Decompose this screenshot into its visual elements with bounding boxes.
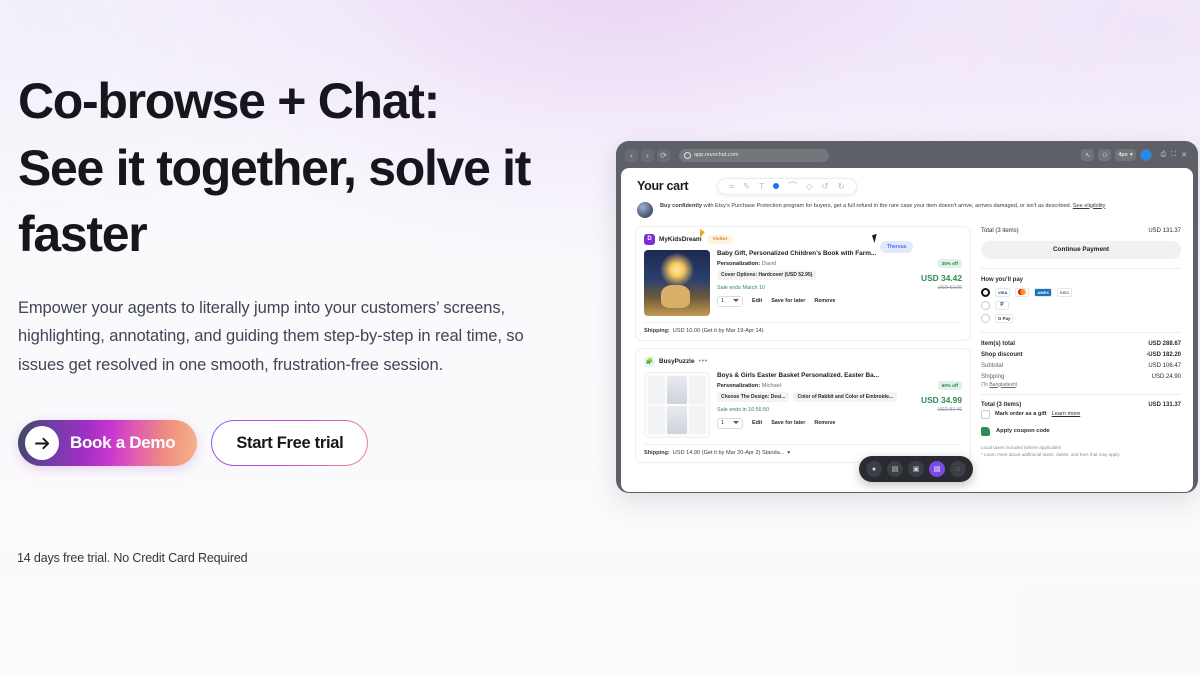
- chevron-down-icon: [733, 299, 739, 305]
- cart-body: D MyKidsDream Visitor Baby Gift, Persona…: [621, 226, 1193, 470]
- hero-copy-block: Co-browse + Chat:See it together, solve …: [18, 68, 598, 379]
- divider: [981, 394, 1181, 395]
- eraser-tool-icon[interactable]: ◇: [806, 182, 813, 191]
- remote-cursor: Theresa: [873, 234, 913, 253]
- cobrowse-dock[interactable]: ● ▤ ▣ ▤ ◌: [859, 456, 973, 482]
- hero-subcopy: Empower your agents to literally jump in…: [18, 294, 538, 380]
- discount-badge: 35% off: [938, 259, 962, 268]
- product-thumbnail[interactable]: [644, 250, 710, 316]
- edit-item-link[interactable]: Edit: [752, 298, 762, 304]
- cursor-icon[interactable]: ↖: [1081, 149, 1094, 161]
- radio-gpay-icon[interactable]: [981, 314, 990, 323]
- thumb-cell: [689, 376, 706, 404]
- coupon-row[interactable]: Apply coupon code: [981, 427, 1181, 436]
- close-icon[interactable]: ✕: [1181, 151, 1187, 159]
- screenshot-icon[interactable]: ⎙: [1161, 151, 1167, 159]
- divider: [981, 268, 1181, 269]
- summary-line-value: USD 288.67: [1148, 341, 1181, 347]
- personalization-value: David: [762, 261, 776, 267]
- shop-row: 🧩 BusyPuzzle •••: [644, 356, 962, 367]
- remote-cursor-label: Theresa: [880, 241, 913, 253]
- shipping-to-suffix: ): [1016, 382, 1018, 388]
- sale-countdown: Sale ends in 16:56:50: [717, 407, 899, 413]
- coupon-label: Apply coupon code: [996, 428, 1050, 434]
- text-tool-icon[interactable]: T: [759, 182, 764, 191]
- shipping-destination: (To Bangladesh): [981, 382, 1181, 388]
- thumb-cell: [648, 406, 665, 434]
- personalization-label: Personalization:: [717, 261, 760, 267]
- divider: [981, 332, 1181, 333]
- thumb-cell: [689, 406, 706, 434]
- cart-item-card: 🧩 BusyPuzzle ••• Boys & Girls Easter Bas…: [635, 348, 971, 463]
- payment-section-title: How you’ll pay: [981, 277, 1181, 283]
- book-demo-label: Book a Demo: [70, 433, 175, 453]
- discover-icon: DISC: [1057, 288, 1073, 297]
- save-for-later-link[interactable]: Save for later: [771, 298, 805, 304]
- quantity-value: 1: [721, 420, 724, 426]
- payment-option-paypal[interactable]: P: [981, 301, 1181, 310]
- dock-chat-button[interactable]: ◌: [950, 461, 966, 477]
- save-for-later-link[interactable]: Save for later: [771, 420, 805, 426]
- order-summary-column: Total (3 items) USD 131.37 Continue Paym…: [981, 226, 1181, 470]
- shipping-row: Shipping: USD 10.00 (Get it by Mar 19-Ap…: [644, 322, 962, 334]
- summary-top-total: Total (3 items) USD 131.37: [981, 228, 1181, 234]
- product-options: Cover Options: Hardcover (USD 52.95): [717, 270, 899, 280]
- gift-learn-more-link[interactable]: Learn more: [1052, 411, 1081, 417]
- shipping-chevron-icon[interactable]: ▾: [787, 450, 790, 456]
- option-chip: Color of Rabbit and Color of Embroide...: [793, 392, 897, 402]
- gift-checkbox[interactable]: [981, 410, 990, 419]
- radio-paypal-icon[interactable]: [981, 301, 990, 310]
- chevron-right-icon[interactable]: ›: [641, 149, 654, 162]
- start-free-trial-label: Start Free trial: [236, 434, 343, 453]
- dock-screen-share-button[interactable]: ▤: [887, 461, 903, 477]
- quantity-stepper[interactable]: 1: [717, 296, 743, 307]
- handshake-icon: [637, 202, 653, 218]
- protection-body: with Etsy’s Purchase Protection program …: [702, 203, 1073, 209]
- tax-note-2: * Learn more about additional taxes, dut…: [981, 451, 1181, 459]
- discount-badge: 60% off: [938, 381, 962, 390]
- dock-mic-button[interactable]: ●: [866, 461, 882, 477]
- start-free-trial-button[interactable]: Start Free trial: [211, 420, 368, 466]
- shipping-value: USD 14.90 (Get it by Mar 20-Apr 2) Stand…: [673, 450, 785, 456]
- option-chip: Choose The Design: Desi...: [717, 392, 789, 402]
- product-info: Boys & Girls Easter Basket Personalized.…: [717, 372, 899, 438]
- cart-title: Your cart: [637, 179, 688, 193]
- item-price-original: USD 52.95: [906, 285, 962, 291]
- protection-bold: Buy confidently: [660, 203, 702, 209]
- summary-line-label: Shop discount: [981, 352, 1023, 358]
- page-title: Co-browse + Chat:See it together, solve …: [18, 68, 598, 268]
- undo-tool-icon[interactable]: ↺: [821, 182, 828, 191]
- browser-chrome: ‹ › ⟳ app.revechat.com ↖ ⚇ 4px ▾ ⎙ ⛶ ✕: [621, 146, 1193, 164]
- summary-line: Shop discount -USD 182.20: [981, 352, 1181, 358]
- shipping-country-link[interactable]: Bangladesh: [989, 382, 1015, 388]
- see-eligibility-link[interactable]: See eligibility: [1073, 203, 1106, 209]
- browser-viewport: Your cart ⌗ ✎ T ⌒ ◇ ↺ ↻ Buy confidently …: [621, 168, 1193, 492]
- product-title[interactable]: Baby Gift, Personalized Children’s Book …: [717, 250, 899, 258]
- final-total-value: USD 131.37: [1148, 402, 1181, 408]
- summary-final-total: Total (3 items) USD 131.37: [981, 402, 1181, 408]
- browser-mockup: ‹ › ⟳ app.revechat.com ↖ ⚇ 4px ▾ ⎙ ⛶ ✕: [616, 141, 1198, 493]
- item-price: USD 34.42: [906, 273, 962, 283]
- thumb-cell: [667, 406, 687, 434]
- cta-row: Book a Demo Start Free trial: [18, 420, 368, 466]
- globe-icon: [684, 152, 691, 159]
- product-personalization: Personalization: Michael: [717, 383, 899, 389]
- product-row: Boys & Girls Easter Basket Personalized.…: [644, 372, 962, 438]
- quantity-stepper[interactable]: 1: [717, 418, 743, 429]
- payment-option-gpay[interactable]: G Pay: [981, 314, 1181, 323]
- shop-logo-icon: D: [644, 234, 655, 245]
- summary-line: Shipping USD 24.90: [981, 374, 1181, 380]
- cart-items-column: D MyKidsDream Visitor Baby Gift, Persona…: [635, 226, 971, 470]
- summary-top-total-label: Total (3 items): [981, 228, 1019, 234]
- gift-option-row[interactable]: Mark order as a gift Learn more: [981, 410, 1181, 419]
- price-column: 35% off USD 34.42 USD 52.95: [906, 250, 962, 316]
- cart-item-card: D MyKidsDream Visitor Baby Gift, Persona…: [635, 226, 971, 341]
- cart-header: Your cart ⌗ ✎ T ⌒ ◇ ↺ ↻: [621, 168, 1193, 195]
- item-price-original: USD 87.40: [906, 407, 962, 413]
- color-swatch-icon[interactable]: [773, 183, 779, 189]
- product-thumbnail[interactable]: [644, 372, 710, 438]
- summary-line-value: USD 24.90: [1152, 374, 1181, 380]
- stroke-size-select[interactable]: 4px ▾: [1115, 149, 1135, 161]
- product-personalization: Personalization: David: [717, 261, 899, 267]
- select-tool-icon[interactable]: ⌗: [729, 182, 734, 191]
- thumb-cell: [667, 376, 687, 404]
- purchase-protection-banner: Buy confidently with Etsy’s Purchase Pro…: [621, 195, 1193, 226]
- cursor-flag-icon: [700, 229, 705, 238]
- hero-page: Co-browse + Chat:See it together, solve …: [0, 0, 1200, 675]
- product-info: Baby Gift, Personalized Children’s Book …: [717, 250, 899, 316]
- decorative-corner-shape: [1010, 585, 1200, 675]
- visitor-badge: Visitor: [707, 235, 734, 244]
- shipping-label: Shipping:: [644, 450, 670, 456]
- presence-dot-icon[interactable]: [1140, 149, 1152, 161]
- item-price: USD 34.99: [906, 395, 962, 405]
- tax-fine-print: Local taxes included (where applicable) …: [981, 444, 1181, 460]
- browser-nav-buttons[interactable]: ‹ › ⟳: [625, 149, 670, 162]
- personalization-value: Michael: [762, 383, 781, 389]
- redo-tool-icon[interactable]: ↻: [838, 182, 845, 191]
- chevron-down-icon: [733, 421, 739, 427]
- shop-logo-icon: 🧩: [644, 356, 655, 367]
- expand-icon[interactable]: ⛶: [1171, 151, 1176, 159]
- address-bar[interactable]: app.revechat.com: [679, 149, 829, 162]
- summary-line-label: Subtotal: [981, 363, 1003, 369]
- people-icon[interactable]: ⚇: [1098, 149, 1111, 161]
- more-options-icon[interactable]: •••: [699, 358, 708, 365]
- edit-item-link[interactable]: Edit: [752, 420, 762, 426]
- dock-video-button[interactable]: ▣: [908, 461, 924, 477]
- summary-line: Item(s) total USD 288.67: [981, 341, 1181, 347]
- shipping-label: Shipping:: [644, 328, 670, 334]
- summary-line-label: Item(s) total: [981, 341, 1015, 347]
- address-bar-url: app.revechat.com: [694, 152, 739, 158]
- gift-label: Mark order as a gift: [995, 411, 1047, 417]
- remove-item-link[interactable]: Remove: [814, 420, 835, 426]
- product-options: Choose The Design: Desi... Color of Rabb…: [717, 392, 899, 402]
- quantity-value: 1: [721, 298, 724, 304]
- item-actions: 1 Edit Save for later Remove: [717, 418, 899, 429]
- continue-payment-button[interactable]: Continue Payment: [981, 241, 1181, 259]
- summary-line-value: USD 106.47: [1148, 363, 1181, 369]
- gpay-icon: G Pay: [995, 314, 1013, 323]
- summary-line-label: Shipping: [981, 374, 1004, 380]
- summary-top-total-value: USD 131.37: [1148, 228, 1181, 234]
- item-actions: 1 Edit Save for later Remove: [717, 296, 899, 307]
- mastercard-icon: [1015, 288, 1029, 297]
- cursor-pointer-icon: [872, 233, 882, 243]
- annotation-toolbar[interactable]: ⌗ ✎ T ⌒ ◇ ↺ ↻: [717, 178, 856, 195]
- shop-name: MyKidsDream: [659, 236, 702, 243]
- coupon-tag-icon: [981, 427, 990, 436]
- radio-card-icon[interactable]: [981, 288, 990, 297]
- thumb-cell: [648, 376, 665, 404]
- product-title[interactable]: Boys & Girls Easter Basket Personalized.…: [717, 372, 899, 380]
- payment-option-card[interactable]: VISA AMEX DISC: [981, 288, 1181, 297]
- price-column: 60% off USD 34.99 USD 87.40: [906, 372, 962, 438]
- summary-line: Subtotal USD 106.47: [981, 363, 1181, 369]
- pen-tool-icon[interactable]: ✎: [743, 182, 750, 191]
- shipping-value: USD 10.00 (Get it by Mar 19-Apr 14): [673, 328, 764, 334]
- product-row: Baby Gift, Personalized Children’s Book …: [644, 250, 962, 316]
- remove-item-link[interactable]: Remove: [814, 298, 835, 304]
- shop-row: D MyKidsDream Visitor: [644, 234, 962, 245]
- summary-lines: Item(s) total USD 288.67 Shop discount -…: [981, 341, 1181, 388]
- chevron-left-icon[interactable]: ‹: [625, 149, 638, 162]
- purchase-protection-text: Buy confidently with Etsy’s Purchase Pro…: [660, 202, 1105, 218]
- trial-fine-print: 14 days free trial. No Credit Card Requi…: [17, 551, 247, 565]
- option-chip: Cover Options: Hardcover (USD 52.95): [717, 270, 816, 280]
- personalization-label: Personalization:: [717, 383, 760, 389]
- shape-tool-icon[interactable]: ⌒: [788, 182, 797, 191]
- shop-name: BusyPuzzle: [659, 358, 695, 365]
- tax-note-1: Local taxes included (where applicable): [981, 444, 1181, 452]
- visa-icon: VISA: [995, 288, 1010, 297]
- arrow-right-icon: [25, 426, 59, 460]
- final-total-label: Total (3 items): [981, 402, 1021, 408]
- sale-countdown: Sale ends March 10: [717, 285, 899, 291]
- book-demo-button[interactable]: Book a Demo: [18, 420, 197, 466]
- summary-line-value: -USD 182.20: [1146, 352, 1181, 358]
- window-controls[interactable]: ⎙ ⛶ ✕: [1161, 151, 1187, 159]
- amex-icon: AMEX: [1034, 288, 1052, 297]
- paypal-icon: P: [995, 301, 1009, 310]
- browser-session-controls: ↖ ⚇ 4px ▾ ⎙ ⛶ ✕: [1081, 149, 1187, 161]
- reload-icon[interactable]: ⟳: [657, 149, 670, 162]
- dock-cobrowse-button[interactable]: ▤: [929, 461, 945, 477]
- stroke-size-label: 4px: [1118, 152, 1127, 158]
- shipping-row: Shipping: USD 14.90 (Get it by Mar 20-Ap…: [644, 444, 962, 456]
